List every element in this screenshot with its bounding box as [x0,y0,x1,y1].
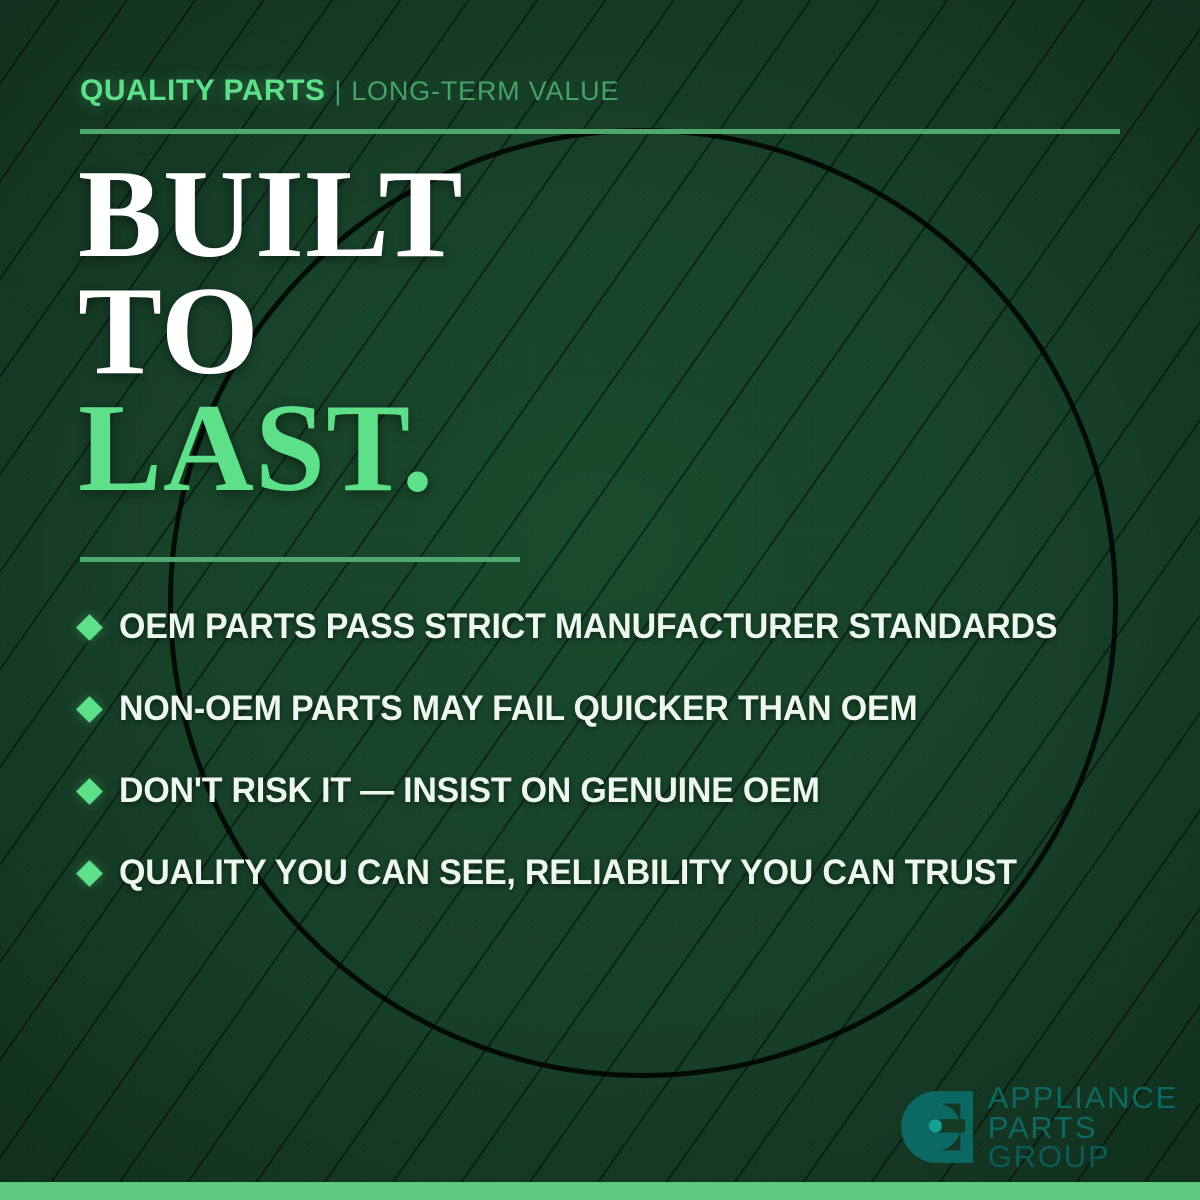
eyebrow-separator: | [334,76,342,107]
eyebrow: QUALITY PARTS | LONG-TERM VALUE [80,74,619,108]
eyebrow-light-label: LONG-TERM VALUE [351,76,619,107]
brand-logo-wordmark: APPLIANCE PARTS GROUP [988,1083,1178,1172]
diamond-bullet-icon [76,614,103,641]
g-monogram-icon [898,1088,976,1166]
list-item-label: OEM PARTS PASS STRICT MANUFACTURER STAND… [119,607,1057,647]
list-item: QUALITY YOU CAN SEE, RELIABILITY YOU CAN… [80,832,1150,914]
brand-logo-line-2: PARTS [988,1113,1178,1143]
headline-line-1: BUILT [78,156,464,273]
list-item: OEM PARTS PASS STRICT MANUFACTURER STAND… [80,586,1150,668]
diamond-bullet-icon [76,696,103,723]
diamond-bullet-icon [76,860,103,887]
poster-content: QUALITY PARTS | LONG-TERM VALUE BUILT TO… [0,0,1200,1200]
list-item: NON-OEM PARTS MAY FAIL QUICKER THAN OEM [80,668,1150,750]
list-item-label: QUALITY YOU CAN SEE, RELIABILITY YOU CAN… [119,853,1017,893]
headline-line-3: LAST. [78,390,464,507]
bottom-accent-bar [0,1182,1200,1200]
list-item: DON'T RISK IT — INSIST ON GENUINE OEM [80,750,1150,832]
headline-line-2: TO [78,273,464,390]
benefits-list: OEM PARTS PASS STRICT MANUFACTURER STAND… [80,586,1150,914]
eyebrow-strong-label: QUALITY PARTS [80,74,325,108]
brand-logo-line-3: GROUP [988,1142,1178,1172]
poster-canvas: QUALITY PARTS | LONG-TERM VALUE BUILT TO… [0,0,1200,1200]
page-title: BUILT TO LAST. [78,156,464,508]
list-item-label: DON'T RISK IT — INSIST ON GENUINE OEM [119,771,820,811]
brand-logo: APPLIANCE PARTS GROUP [898,1083,1178,1172]
brand-logo-line-1: APPLIANCE [988,1083,1178,1113]
diamond-bullet-icon [76,778,103,805]
header-divider-rule [80,129,1120,134]
list-item-label: NON-OEM PARTS MAY FAIL QUICKER THAN OEM [119,689,917,729]
headline-underline-rule [80,557,520,562]
